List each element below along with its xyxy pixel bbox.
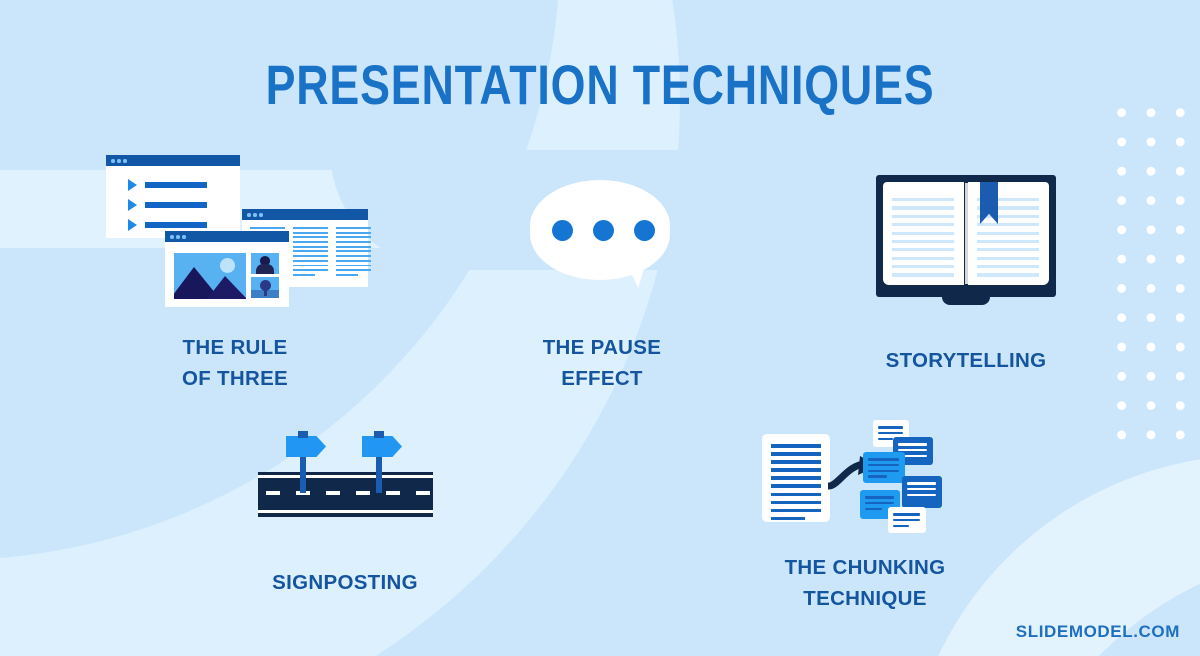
- signpost-cap: [298, 431, 308, 438]
- direction-sign-icon: [362, 436, 402, 457]
- document-chunks-icon: [762, 420, 947, 535]
- bullet-line: [145, 182, 207, 188]
- dot: [552, 220, 573, 241]
- item-label-pause-effect: THE PAUSE EFFECT: [472, 332, 732, 394]
- road-edge-stripe: [258, 510, 433, 513]
- item-label-storytelling: STORYTELLING: [836, 345, 1096, 376]
- triangle-bullet-icon: [128, 219, 137, 231]
- book-spine: [965, 183, 968, 284]
- slide-card-media: [165, 231, 289, 307]
- chunk-lines: [893, 513, 920, 527]
- card-titlebar: [165, 231, 289, 242]
- open-book-icon: [876, 175, 1056, 310]
- triangle-bullet-icon: [128, 199, 137, 211]
- tree-thumbnail-icon: [251, 277, 279, 298]
- text-column: [336, 227, 371, 276]
- item-label-chunking-technique: THE CHUNKING TECHNIQUE: [735, 552, 995, 614]
- bullet-line: [145, 202, 207, 208]
- chunk-card: [888, 507, 926, 533]
- dot: [593, 220, 614, 241]
- bullet-row: [128, 179, 207, 191]
- bullet-line: [145, 222, 207, 228]
- person-thumbnail-icon: [251, 253, 279, 274]
- person-body: [256, 264, 274, 274]
- item-label-signposting: SIGNPOSTING: [215, 567, 475, 598]
- document-text-lines: [771, 444, 821, 520]
- chunk-card: [863, 452, 905, 483]
- bullet-row: [128, 219, 207, 231]
- tree-canopy: [260, 280, 271, 291]
- book-foot: [942, 291, 990, 305]
- book-page-left: [883, 182, 964, 285]
- presentation-slide: PRESENTATION TECHNIQUES: [0, 0, 1200, 656]
- speech-bubble-icon: [530, 180, 675, 300]
- landscape-photo-icon: [174, 253, 246, 299]
- page-title: PRESENTATION TECHNIQUES: [120, 52, 1080, 117]
- ellipsis-dots: [552, 220, 655, 241]
- direction-sign-icon: [286, 436, 326, 457]
- sun-icon: [220, 258, 235, 273]
- road-center-dashes: [266, 491, 430, 495]
- card-titlebar: [106, 155, 240, 166]
- dot: [634, 220, 655, 241]
- triangle-bullet-icon: [128, 179, 137, 191]
- card-titlebar: [242, 209, 368, 220]
- signpost-cap: [374, 431, 384, 438]
- page-text-lines: [892, 198, 954, 277]
- road-edge-stripe: [258, 475, 433, 478]
- item-label-rule-of-three: THE RULE OF THREE: [105, 332, 365, 394]
- slide-stack-icon: [100, 150, 380, 320]
- brand-watermark: SLIDEMODEL.COM: [1016, 622, 1180, 642]
- slide-card-bullets: [106, 155, 240, 238]
- bullet-row: [128, 199, 207, 211]
- chunk-lines: [907, 482, 936, 496]
- dot-grid-pattern: [1107, 98, 1200, 460]
- signpost-road-icon: [258, 425, 433, 525]
- mountain-shape: [207, 276, 246, 299]
- text-column: [293, 227, 328, 276]
- chunk-card: [902, 476, 942, 508]
- source-document: [762, 434, 830, 522]
- chunk-lines: [868, 458, 899, 478]
